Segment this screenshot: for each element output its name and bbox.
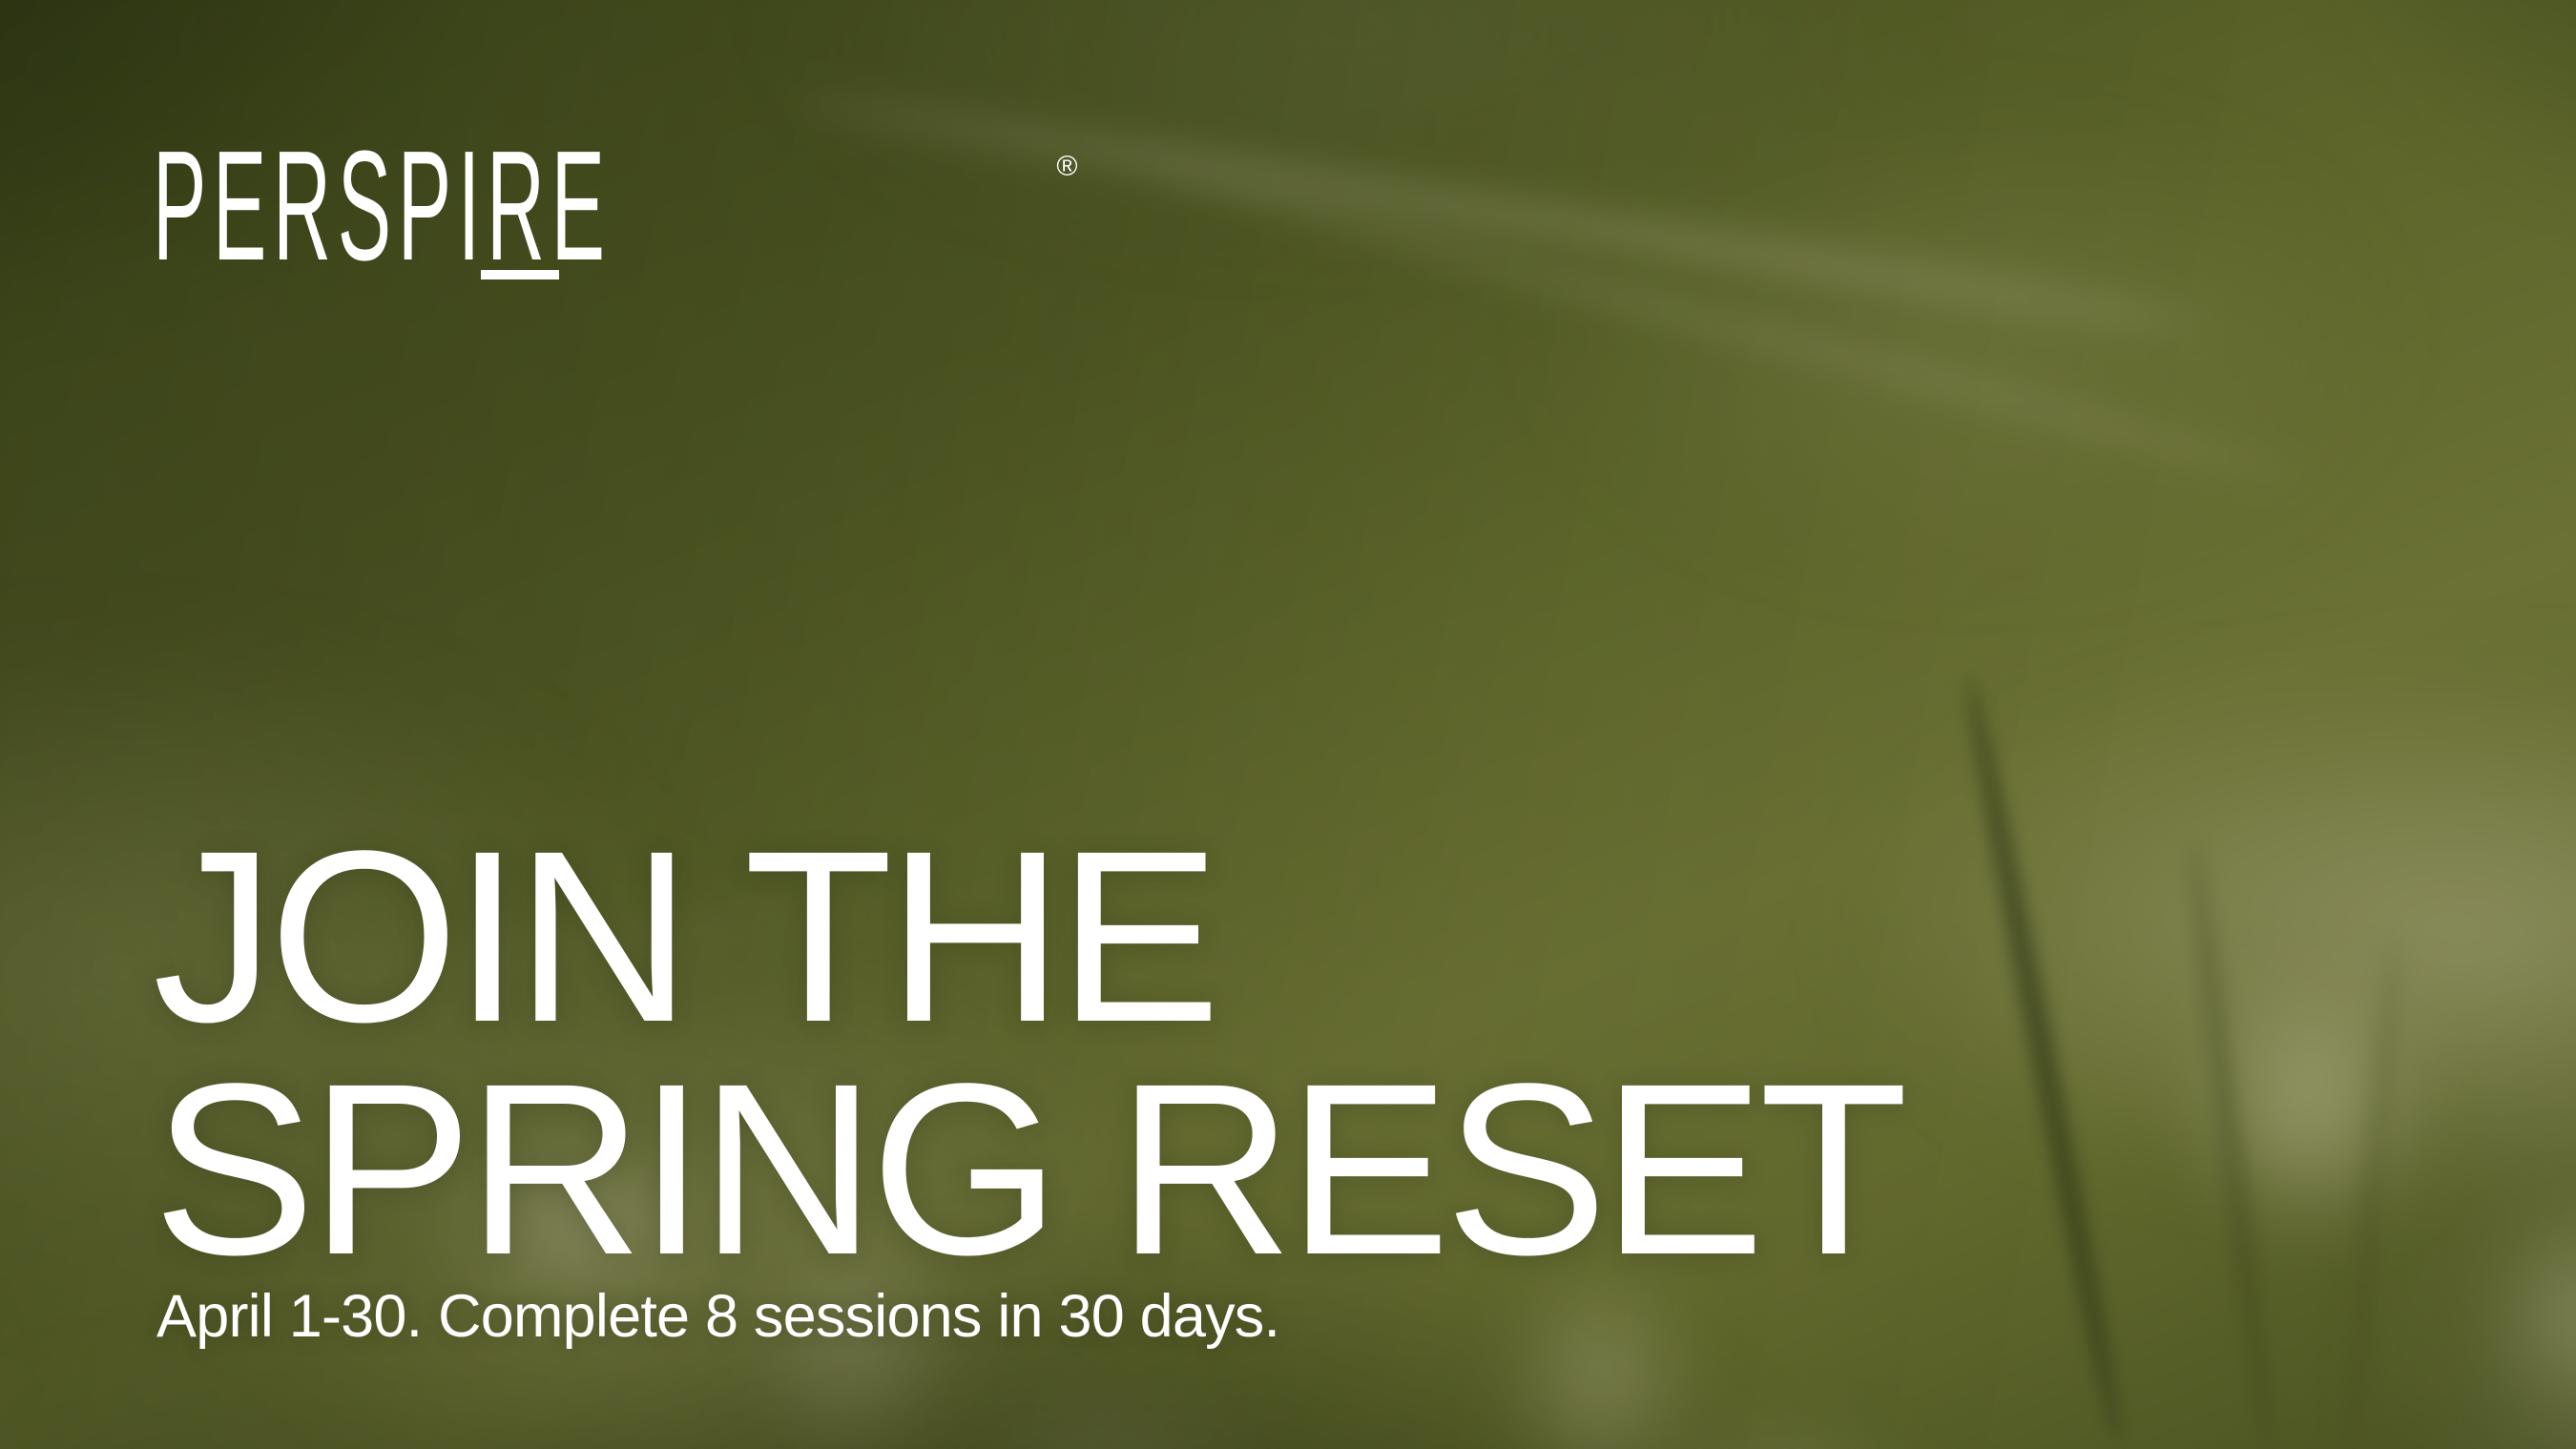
promo-banner: PERSPIRE ® JOIN THE SPRING RESET April 1… [0, 0, 2576, 1449]
brand-logo[interactable]: PERSPIRE ® [153, 145, 1077, 267]
banner-content: PERSPIRE ® JOIN THE SPRING RESET April 1… [0, 0, 2576, 1449]
logo-underline-rule [481, 270, 559, 279]
logo-wordmark-text: PERSPIRE [153, 145, 612, 267]
headline-line-1: JOIN THE [153, 820, 1902, 1053]
hero-subhead: April 1-30. Complete 8 sessions in 30 da… [156, 1282, 1279, 1351]
perspire-wordmark-icon: PERSPIRE [153, 145, 1043, 267]
hero-headline: JOIN THE SPRING RESET [153, 820, 1902, 1287]
registered-trademark-icon: ® [1056, 153, 1077, 181]
headline-line-2: SPRING RESET [153, 1053, 1902, 1286]
